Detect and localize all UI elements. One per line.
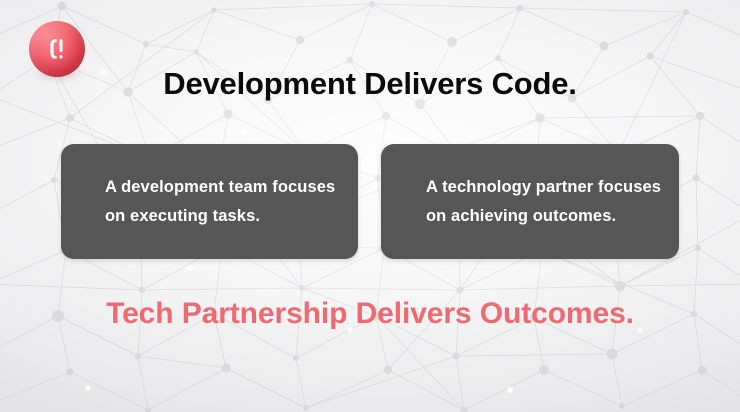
footer-statement: Tech Partnership Delivers Outcomes. bbox=[0, 297, 740, 331]
slide-headline: Development Delivers Code. bbox=[0, 66, 740, 102]
slide-canvas: Development Delivers Code. A development… bbox=[0, 0, 740, 412]
development-team-card[interactable]: A development team focuses on executing … bbox=[61, 144, 358, 259]
q-exclamation-icon bbox=[44, 36, 70, 62]
development-team-card-text: A development team focuses on executing … bbox=[105, 173, 344, 230]
technology-partner-card[interactable]: A technology partner focuses on achievin… bbox=[381, 144, 679, 259]
comparison-cards: A development team focuses on executing … bbox=[61, 144, 679, 259]
technology-partner-card-text: A technology partner focuses on achievin… bbox=[426, 173, 665, 230]
